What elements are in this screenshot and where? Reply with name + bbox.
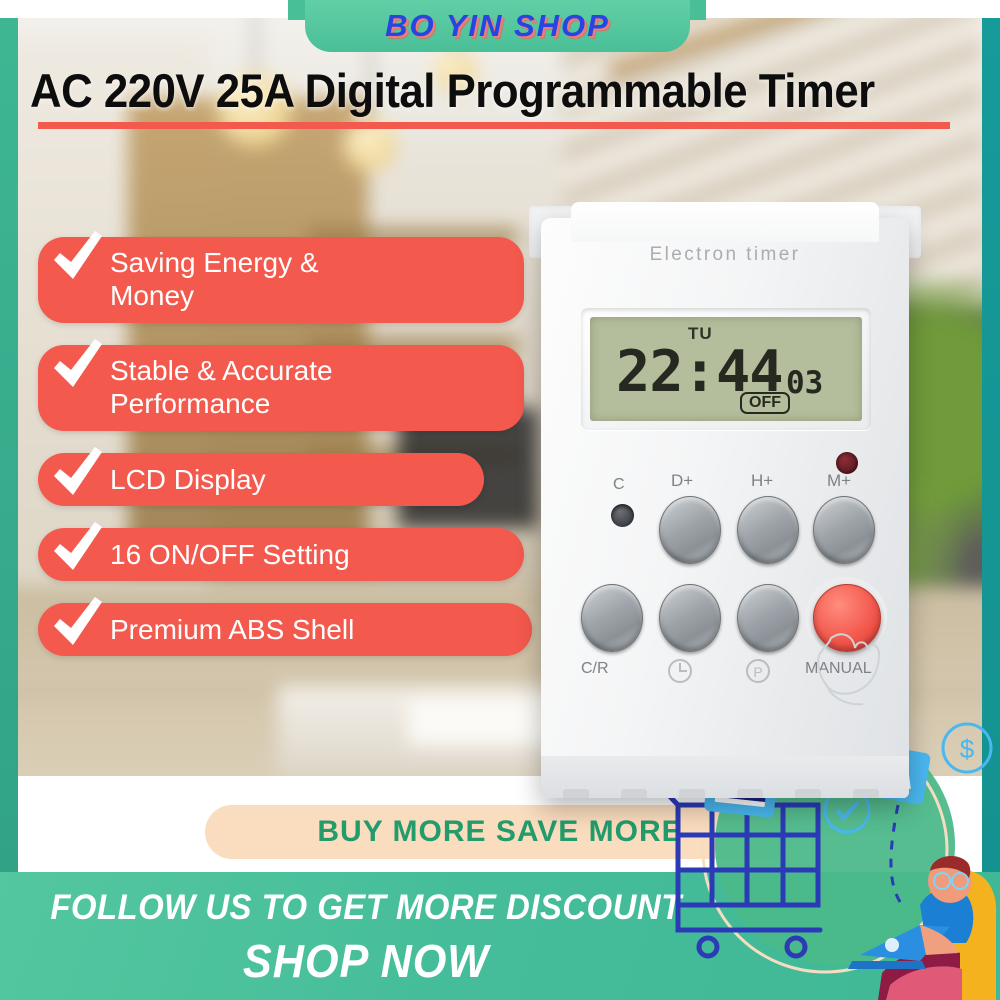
- check-icon: [50, 445, 106, 501]
- button-label-c-r: C/R: [581, 660, 609, 678]
- device-bottom-face: [541, 756, 909, 798]
- button-m-plus[interactable]: [813, 496, 875, 564]
- feature-item-lcd-display: LCD Display: [38, 453, 484, 506]
- shop-name-ribbon: BO YIN SHOP: [305, 0, 690, 52]
- feature-label-line1: Stable & Accurate: [110, 354, 502, 387]
- feature-label: LCD Display: [110, 463, 462, 496]
- timer-device: Electron timer TU 22:44 03 OFF C D+ H+ M…: [523, 196, 927, 808]
- button-label-c: C: [613, 476, 625, 494]
- device-brand-label: Electron timer: [523, 244, 927, 266]
- page-title: AC 220V 25A Digital Programmable Timer: [30, 63, 970, 118]
- feature-label-line2: Performance: [110, 387, 502, 420]
- button-c-r[interactable]: [581, 584, 643, 652]
- svg-text:$: $: [960, 734, 975, 764]
- feature-item-stable-accurate: Stable & Accurate Performance: [38, 345, 524, 431]
- device-top-face: [571, 202, 879, 242]
- check-icon: [50, 595, 106, 651]
- footer-line2: SHOP NOW: [46, 934, 685, 988]
- feature-label: 16 ON/OFF Setting: [110, 538, 502, 571]
- button-label-m-plus: M+: [827, 471, 851, 491]
- button-p[interactable]: [737, 584, 799, 652]
- lcd-seconds-value: 03: [786, 365, 823, 401]
- lcd-screen: TU 22:44 03 OFF: [590, 317, 862, 421]
- check-icon: [50, 520, 106, 576]
- button-clock[interactable]: [659, 584, 721, 652]
- product-marketing-banner: BO YIN SHOP AC 220V 25A Digital Programm…: [0, 0, 1000, 1000]
- p-circle-icon: P: [745, 658, 771, 689]
- check-icon: [50, 229, 106, 285]
- feature-label-line1: Saving Energy &: [110, 246, 502, 279]
- shop-name-label: BO YIN SHOP: [385, 8, 610, 44]
- lcd-bezel: TU 22:44 03 OFF: [581, 308, 871, 430]
- feature-list: Saving Energy & Money Stable & Accurate …: [38, 237, 532, 678]
- check-icon: [50, 337, 106, 393]
- button-d-plus[interactable]: [659, 496, 721, 564]
- feature-label: Premium ABS Shell: [110, 613, 510, 646]
- title-underline: [38, 122, 950, 129]
- left-edge-strip: [0, 0, 18, 1000]
- lcd-status-badge: OFF: [740, 392, 790, 414]
- feature-label-line2: Money: [110, 279, 502, 312]
- footer-line1: FOLLOW US TO GET MORE DISCOUNT: [46, 888, 685, 928]
- feature-item-16-on-off-setting: 16 ON/OFF Setting: [38, 528, 524, 581]
- button-label-h-plus: H+: [751, 471, 773, 491]
- feature-item-saving-energy: Saving Energy & Money: [38, 237, 524, 323]
- hand-pointer-doodle-icon: [805, 626, 897, 706]
- clock-icon: [667, 658, 693, 689]
- button-h-plus[interactable]: [737, 496, 799, 564]
- feature-item-premium-abs-shell: Premium ABS Shell: [38, 603, 532, 656]
- page-title-label: AC 220V 25A Digital Programmable Timer: [30, 63, 904, 118]
- svg-text:P: P: [753, 664, 762, 680]
- button-label-d-plus: D+: [671, 471, 693, 491]
- reset-hole-c[interactable]: [611, 504, 634, 527]
